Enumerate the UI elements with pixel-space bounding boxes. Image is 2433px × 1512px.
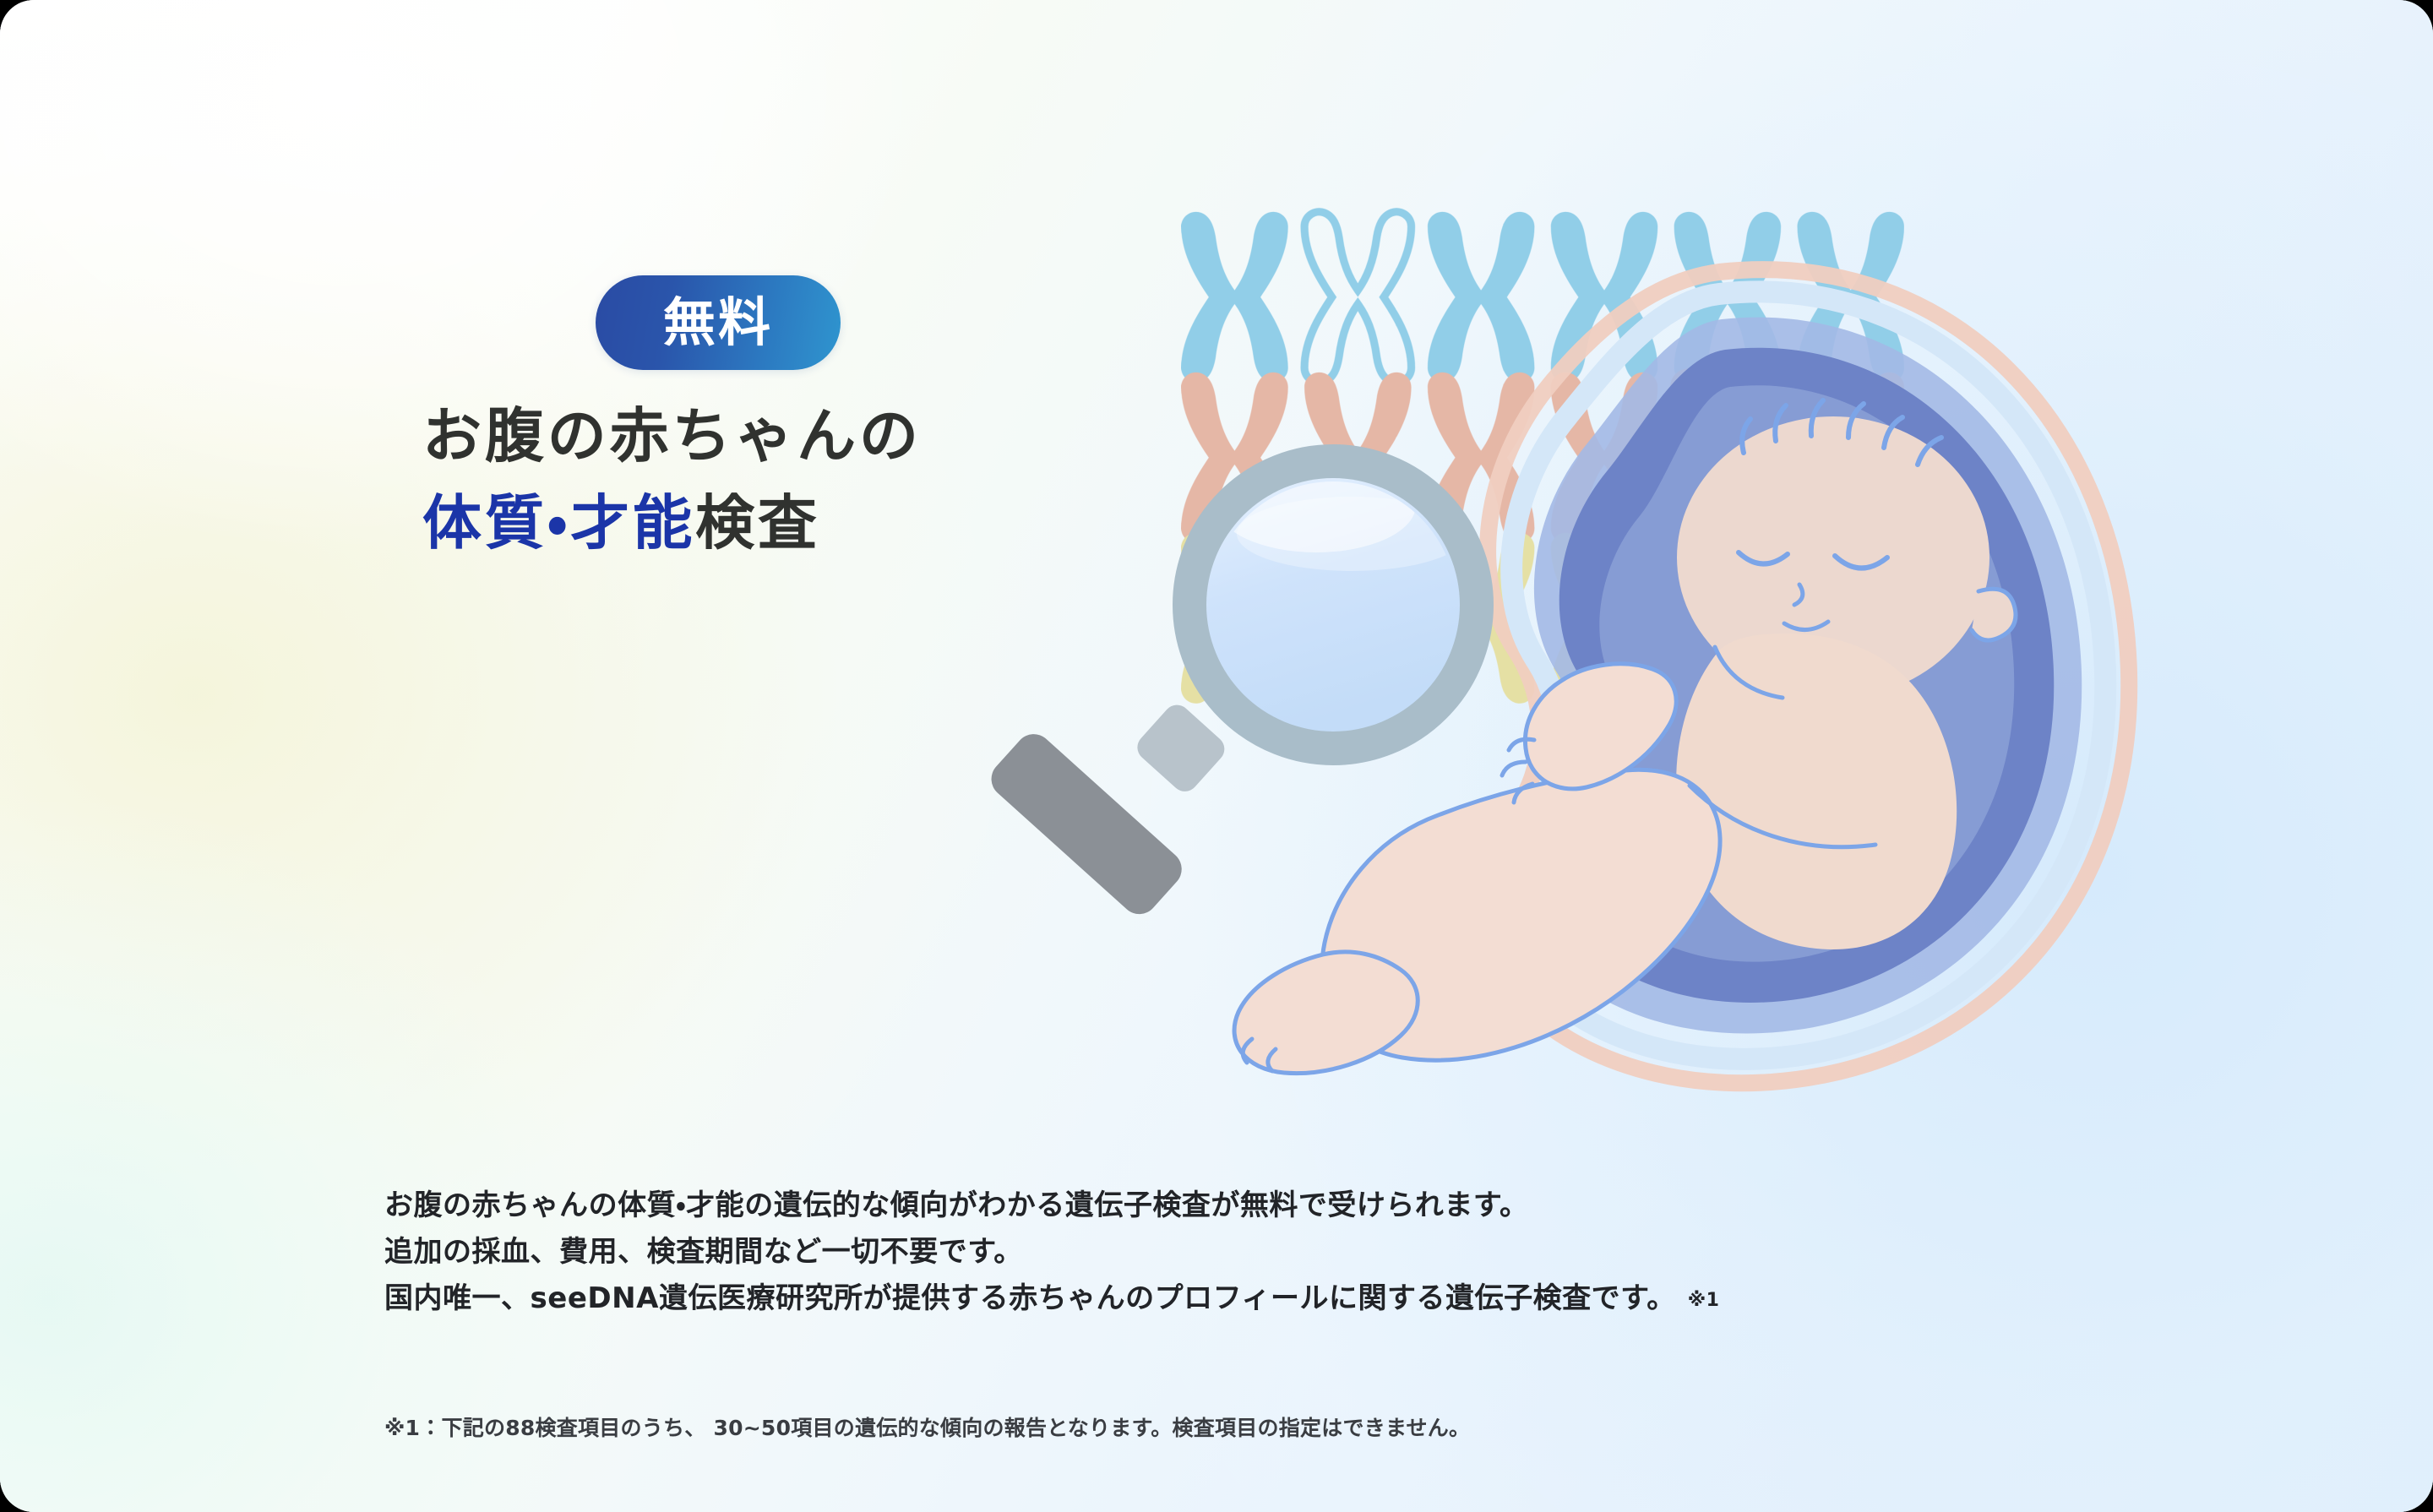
- body-line-3-text: 国内唯一、seeDNA遺伝医療研究所が提供する赤ちゃんのプロフィールに関する遺伝…: [384, 1281, 1676, 1315]
- body-line-2: 追加の採血、費用、検査期間など一切不要です。: [384, 1229, 1719, 1275]
- footnote-marker: ※1: [1688, 1290, 1720, 1311]
- hero-card: 無料 お腹の赤ちゃんの 体質・才能検査 お腹の赤ちゃんの体質・才能の遺伝的な傾向…: [0, 0, 2433, 1512]
- headline-line-2: 体質・才能検査: [422, 487, 1081, 559]
- headline-suffix: 検査: [695, 488, 820, 557]
- free-badge-label: 無料: [663, 296, 773, 349]
- free-badge: 無料: [596, 275, 841, 370]
- body-line-3: 国内唯一、seeDNA遺伝医療研究所が提供する赤ちゃんのプロフィールに関する遺伝…: [384, 1275, 1719, 1322]
- body-line-1: お腹の赤ちゃんの体質・才能の遺伝的な傾向がわかる遺伝子検査が無料で受けられます。: [384, 1183, 1719, 1229]
- page-title: お腹の赤ちゃんの 体質・才能検査: [422, 400, 1081, 560]
- footnote-text: ※1：下記の88検査項目のうち、 30~50項目の遺伝的な傾向の報告となります。…: [384, 1411, 1470, 1442]
- hero-illustration: [955, 194, 2154, 1140]
- headline-highlight: 体質・才能: [422, 488, 695, 557]
- headline-line-1: お腹の赤ちゃんの: [422, 400, 1081, 472]
- body-copy: お腹の赤ちゃんの体質・才能の遺伝的な傾向がわかる遺伝子検査が無料で受けられます。…: [384, 1183, 1719, 1322]
